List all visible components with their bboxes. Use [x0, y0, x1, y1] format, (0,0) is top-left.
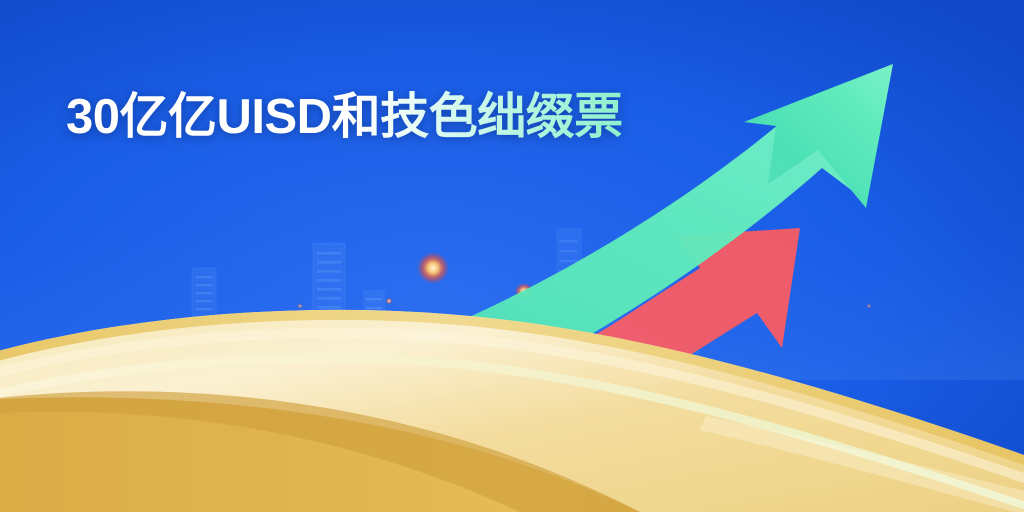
- golden-road-ribbon: [0, 0, 1024, 512]
- promo-poster: 30亿亿UISD和技色绌缀票: [0, 0, 1024, 512]
